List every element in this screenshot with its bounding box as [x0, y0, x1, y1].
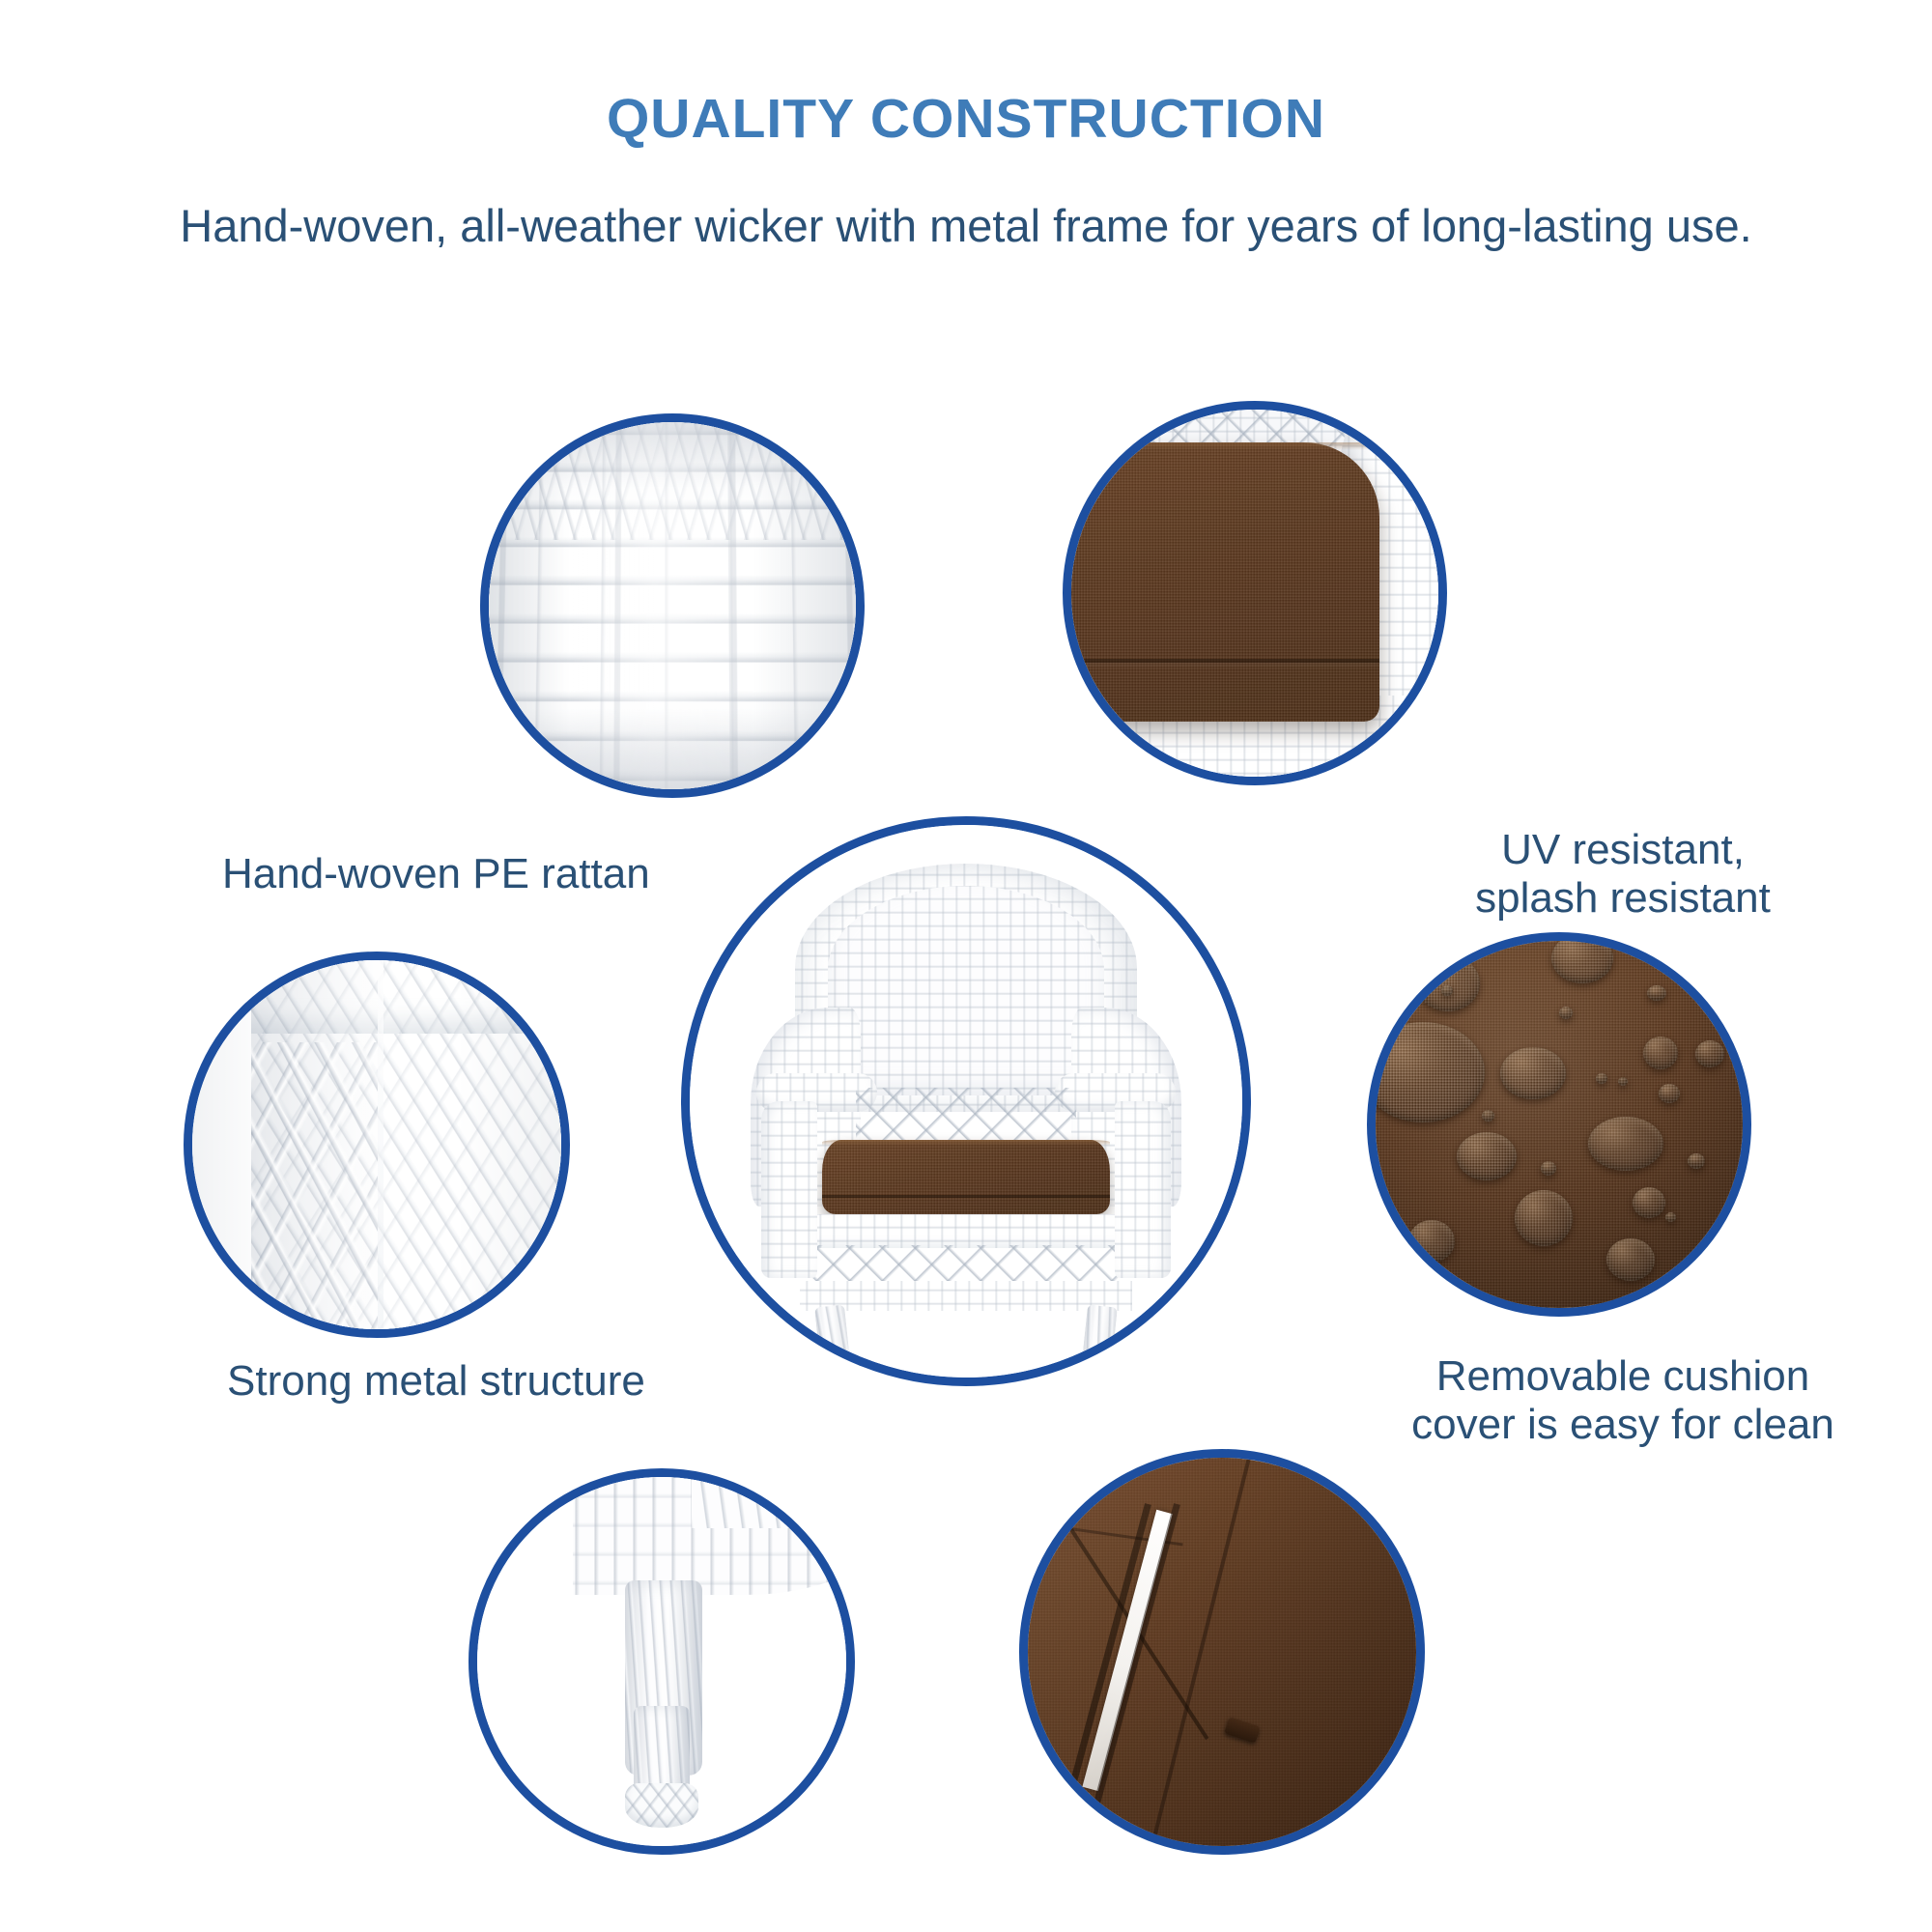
water-droplet: [1482, 1110, 1494, 1122]
water-droplet: [1457, 1132, 1517, 1180]
page-title: QUALITY CONSTRUCTION: [0, 92, 1932, 147]
feature-circle-strong-metal-structure[interactable]: [184, 952, 570, 1338]
water-droplet: [1647, 985, 1666, 1001]
caption-removable-cushion-cover: Removable cushion cover is easy for clea…: [1352, 1352, 1893, 1448]
feature-circle-hand-woven-pe-rattan[interactable]: [480, 413, 865, 798]
water-droplet: [1659, 1084, 1680, 1103]
feature-circle-removable-cushion-cover[interactable]: [1367, 932, 1751, 1317]
water-droplet: [1606, 1238, 1655, 1281]
header: QUALITY CONSTRUCTION Hand-woven, all-wea…: [0, 0, 1932, 251]
white-wicker-armchair-with-brown-cushion-image: [690, 825, 1242, 1378]
feature-circle-wicker-leg-detail[interactable]: [469, 1468, 855, 1855]
water-droplet: [1643, 1037, 1678, 1069]
water-droplet: [1416, 955, 1480, 1011]
water-droplet: [1618, 1077, 1628, 1086]
water-droplet: [1541, 1161, 1556, 1176]
feature-circle-cushion-zipper-detail[interactable]: [1019, 1449, 1425, 1855]
white-wicker-weave-closeup-image: [489, 422, 856, 789]
water-droplet: [1695, 1040, 1724, 1067]
feature-circle-uv-splash-resistant[interactable]: [1063, 401, 1447, 785]
caption-hand-woven-pe-rattan: Hand-woven PE rattan: [222, 850, 744, 898]
white-wicker-chair-leg-closeup-image: [477, 1477, 846, 1846]
white-wicker-chair-arm-corner-image: [192, 960, 561, 1329]
water-droplets-on-brown-fabric-image: [1376, 941, 1743, 1308]
caption-uv-splash-resistant: UV resistant, splash resistant: [1420, 826, 1826, 922]
page-subtitle: Hand-woven, all-weather wicker with meta…: [0, 201, 1932, 251]
water-droplet: [1441, 985, 1453, 996]
water-droplet: [1500, 1047, 1566, 1099]
feature-circle-chair-product-hero[interactable]: [681, 816, 1251, 1386]
water-droplet: [1633, 1187, 1665, 1218]
water-droplet: [1408, 1220, 1455, 1263]
brown-cushion-on-white-wicker-chair-image: [1071, 410, 1438, 777]
brown-cushion-cover-zipper-image: [1028, 1458, 1416, 1846]
water-droplet: [1596, 1073, 1607, 1084]
